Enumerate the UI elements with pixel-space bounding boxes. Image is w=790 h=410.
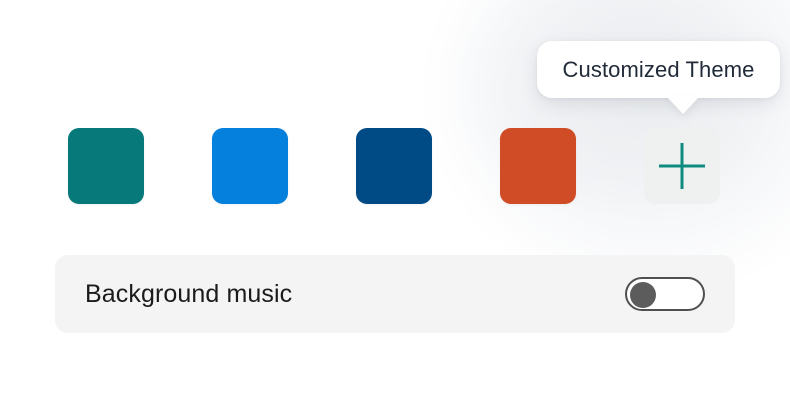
theme-swatch-blue[interactable]	[212, 128, 288, 204]
customized-theme-tooltip: Customized Theme	[537, 41, 780, 98]
background-music-toggle[interactable]	[625, 277, 705, 311]
theme-swatch-teal[interactable]	[68, 128, 144, 204]
theme-color-swatches	[68, 128, 720, 204]
theme-settings-screen: Customized Theme Background music	[0, 0, 790, 410]
add-custom-theme-button[interactable]	[644, 128, 720, 204]
tooltip-label: Customized Theme	[563, 57, 755, 83]
setting-label-background-music: Background music	[85, 280, 292, 309]
theme-swatch-orange-red[interactable]	[500, 128, 576, 204]
toggle-knob	[630, 282, 656, 308]
theme-swatch-navy[interactable]	[356, 128, 432, 204]
tooltip-pointer-down-icon	[666, 96, 700, 114]
plus-icon	[658, 142, 706, 190]
setting-row-background-music: Background music	[55, 255, 735, 333]
